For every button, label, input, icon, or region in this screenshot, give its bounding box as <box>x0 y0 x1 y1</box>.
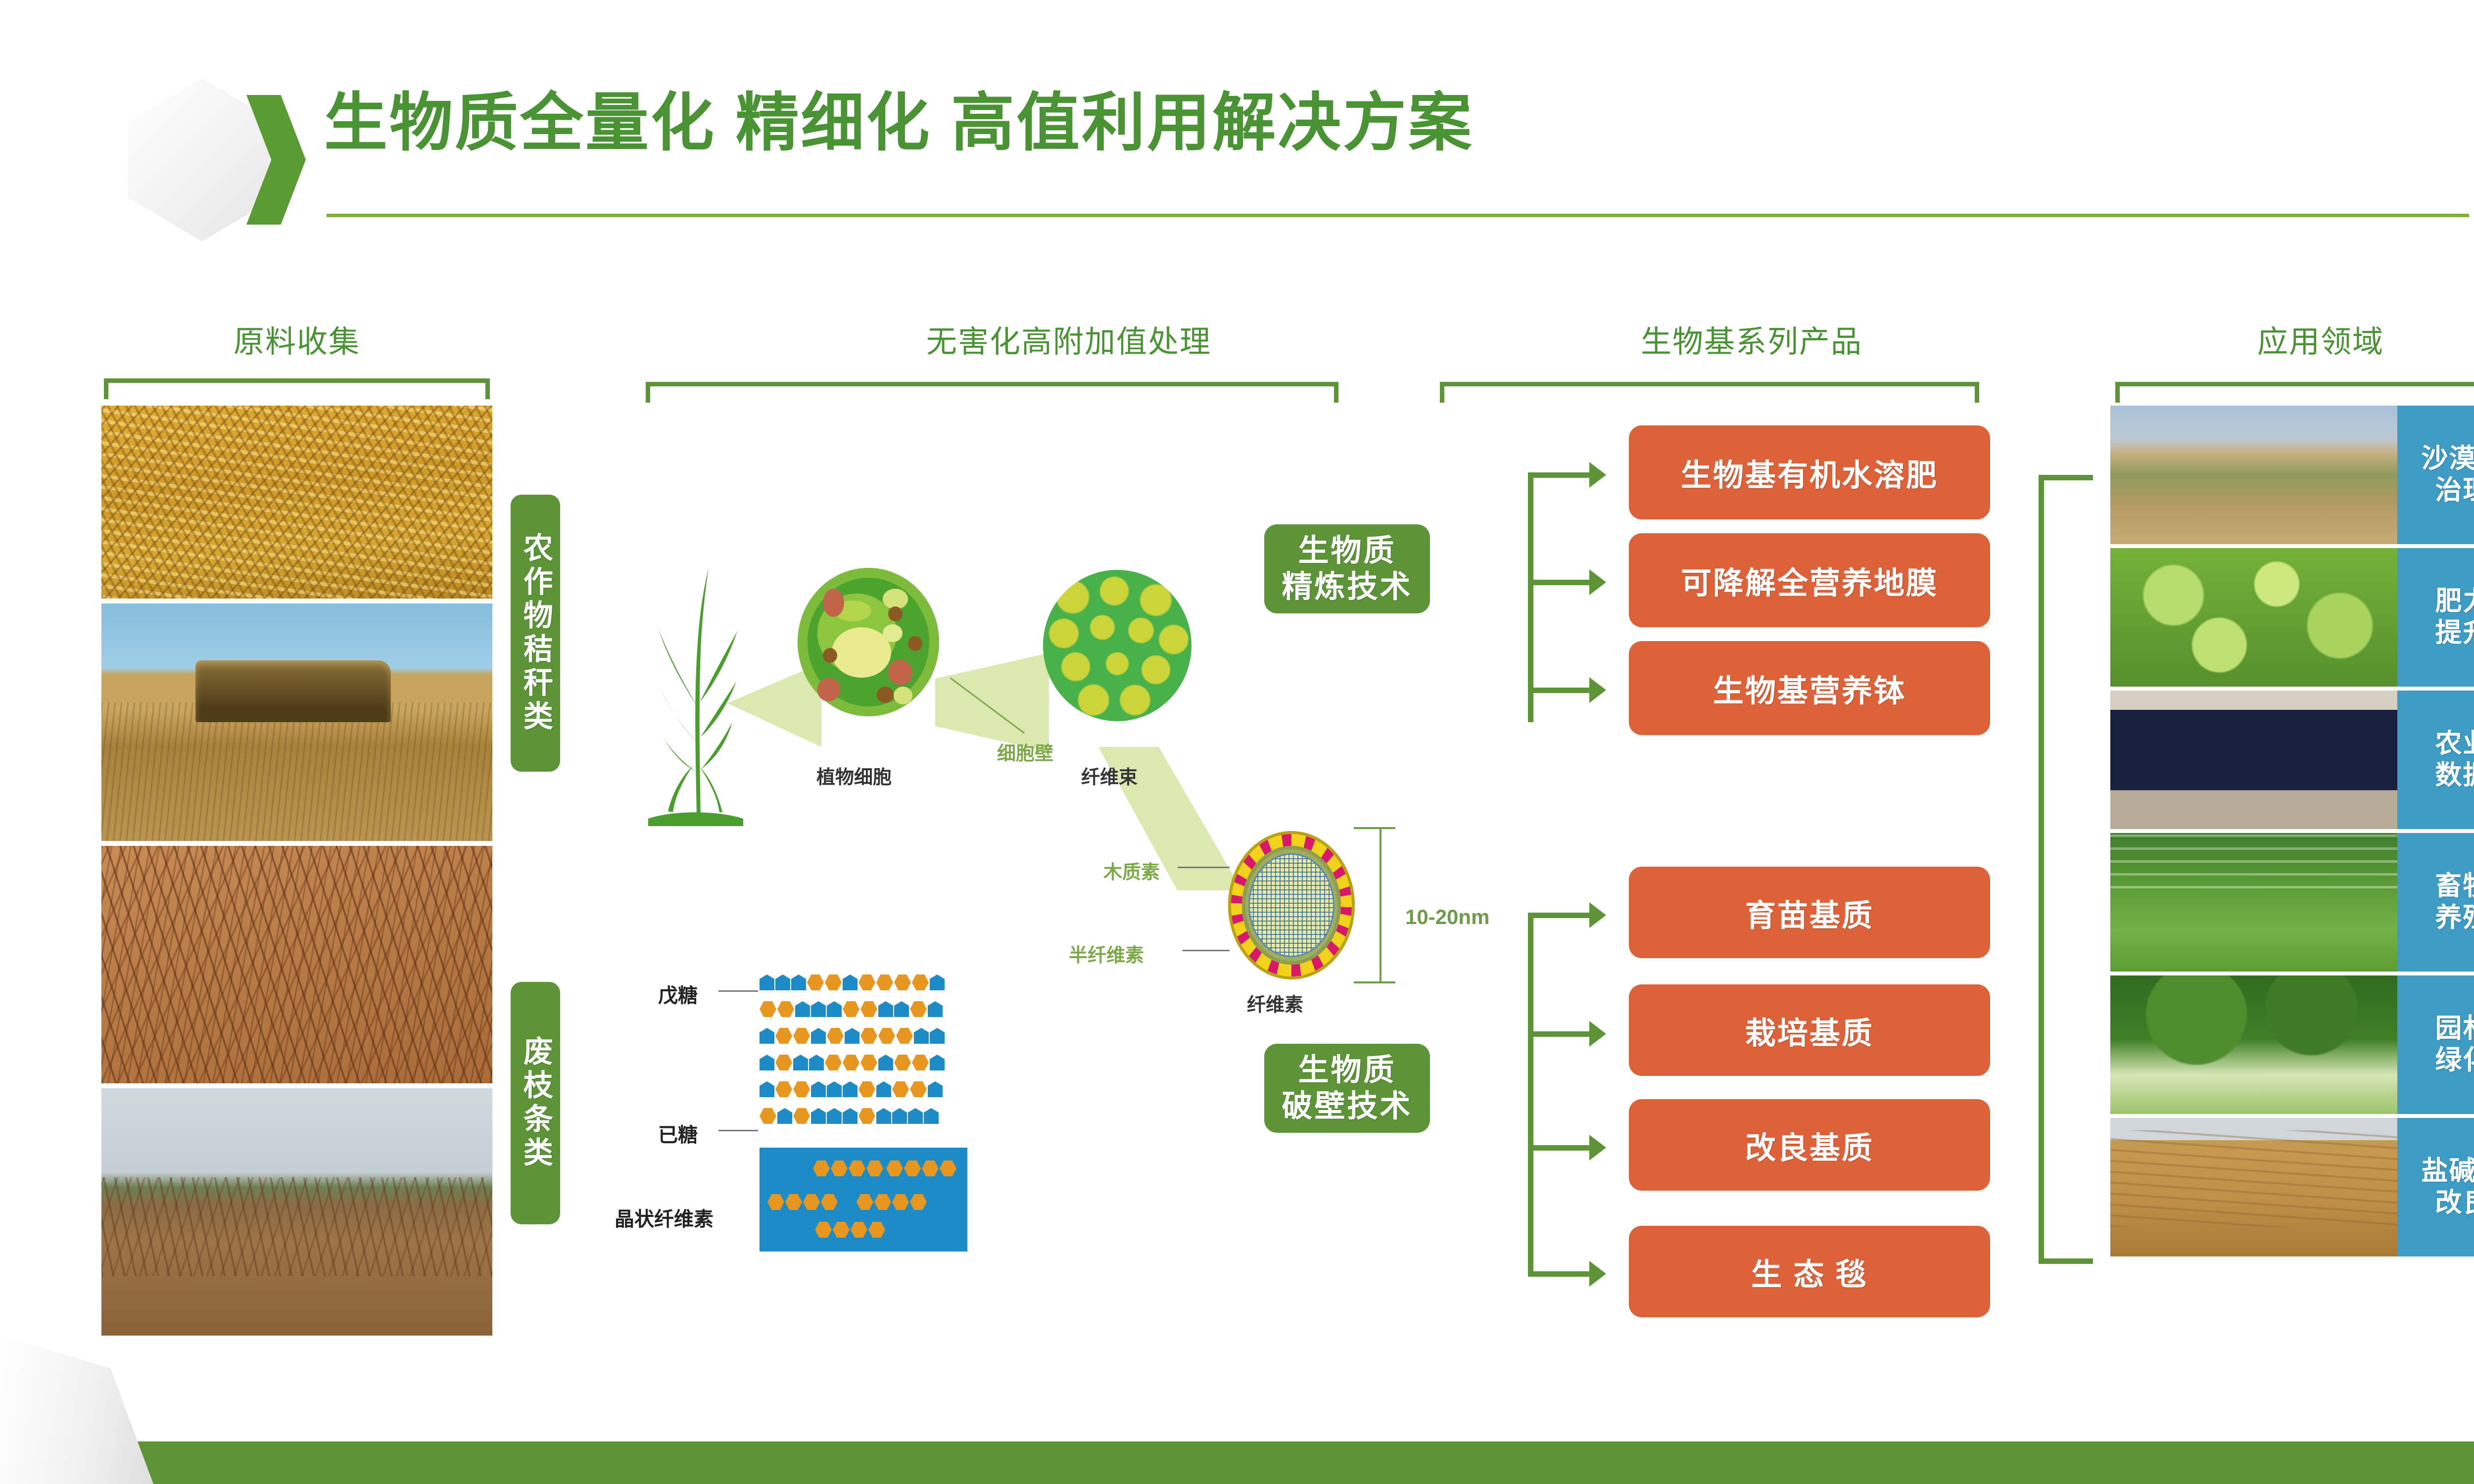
vertical-tag-waste-branches: 废枝条类 <box>511 982 560 1224</box>
flow-arm-wall-3 <box>1528 1145 1592 1151</box>
photo-straw-bale <box>101 603 492 841</box>
product-box-water-soluble-fertilizer[interactable]: 生物基有机水溶肥 <box>1629 425 1990 519</box>
sugar-chain-diagram <box>760 974 1002 1143</box>
flow-arrow-wall-1 <box>1589 902 1606 928</box>
product-box-seedling-substrate[interactable]: 育苗基质 <box>1629 867 1990 958</box>
hemicellulose-label: 半纤维素 <box>1069 940 1144 967</box>
cellulose-label: 纤维素 <box>1247 989 1303 1017</box>
crystalline-cellulose-label: 晶状纤维素 <box>615 1203 714 1232</box>
fiber-bundle-label: 纤维束 <box>1081 762 1138 789</box>
bracket-raw <box>104 378 490 399</box>
technology-box-refining[interactable]: 生物质 精炼技术 <box>1264 524 1430 613</box>
footer-bar <box>0 1441 2474 1484</box>
application-tag-landscaping-line2: 绿化 <box>2435 1045 2474 1076</box>
flow-arrow-wall-2 <box>1589 1021 1606 1047</box>
product-box-biodegradable-mulch-film[interactable]: 可降解全营养地膜 <box>1629 533 1990 627</box>
application-tag-livestock: 畜牧 养殖 <box>2397 833 2474 972</box>
hexose-label: 已糖 <box>658 1119 698 1148</box>
grass-plant-icon <box>638 559 752 826</box>
application-tag-agri-data: 农业 数据 <box>2397 691 2474 829</box>
application-photo-landscaping <box>2110 975 2397 1114</box>
science-illustration-panel: 10-20nm 细胞壁 植物细胞 纤维束 木质素 半纤维素 纤维素 戊糖 已糖 <box>609 514 1514 1266</box>
column-heading-processing: 无害化高附加值处理 <box>633 317 1504 361</box>
application-tag-fertility-line2: 提升 <box>2435 617 2474 649</box>
application-tag-saline-alkali: 盐碱地 改良 <box>2397 1118 2474 1256</box>
hemicellulose-lead-line <box>1183 950 1230 951</box>
application-photo-fertility <box>2110 548 2397 687</box>
application-tag-landscaping-line1: 园林 <box>2435 1013 2474 1045</box>
pentose-lead-line <box>718 990 758 992</box>
application-photo-agri-data <box>2110 691 2397 829</box>
application-photo-desertification <box>2110 406 2397 544</box>
raw-material-photo-column <box>101 406 492 1336</box>
technology-box-refining-line1: 生物质 <box>1298 533 1396 569</box>
fiber-bundle-illustration <box>1043 570 1191 721</box>
application-photo-saline-alkali <box>2110 1118 2397 1256</box>
application-photo-livestock <box>2110 833 2397 972</box>
flow-arrow-refining-2 <box>1589 569 1606 595</box>
flow-trunk-refining <box>1528 475 1533 722</box>
technology-box-wall-breaking[interactable]: 生物质 破壁技术 <box>1264 1044 1430 1133</box>
column-heading-raw: 原料收集 <box>101 317 492 361</box>
photo-waste-branches <box>101 846 492 1083</box>
application-tag-desertification-line2: 治理 <box>2435 475 2474 507</box>
column-heading-apps: 应用领域 <box>2108 317 2474 361</box>
application-row-desertification[interactable]: 沙漠化 治理 <box>2110 406 2474 544</box>
technology-box-wall-breaking-line2: 破壁技术 <box>1282 1088 1412 1124</box>
flow-arrow-refining-1 <box>1589 462 1606 488</box>
pentose-label: 戊糖 <box>658 979 698 1008</box>
photo-orchard-pruning <box>101 1088 492 1336</box>
bracket-processing <box>646 382 1338 403</box>
application-tag-desertification: 沙漠化 治理 <box>2397 406 2474 544</box>
footer-wedge-decoration <box>0 1336 153 1484</box>
flow-arrow-refining-3 <box>1589 677 1606 703</box>
plant-cell-illustration <box>798 568 939 716</box>
crystalline-cellulose-diagram <box>760 1148 967 1252</box>
fiber-cross-section-illustration <box>1228 831 1355 979</box>
application-bracket <box>2039 475 2093 1264</box>
plant-cell-label: 植物细胞 <box>816 762 892 789</box>
lignin-label: 木质素 <box>1103 857 1160 884</box>
application-tag-fertility-line1: 肥力 <box>2435 586 2474 617</box>
lignin-lead-line <box>1178 867 1230 868</box>
application-tag-fertility: 肥力 提升 <box>2397 548 2474 687</box>
application-tag-landscaping: 园林 绿化 <box>2397 975 2474 1114</box>
technology-box-refining-line2: 精炼技术 <box>1282 569 1412 605</box>
flow-arrow-wall-4 <box>1589 1261 1606 1287</box>
flow-arm-wall-2 <box>1528 1031 1592 1037</box>
application-row-livestock[interactable]: 畜牧 养殖 <box>2110 833 2474 972</box>
scale-label: 10-20nm <box>1405 905 1489 929</box>
application-tag-livestock-line1: 畜牧 <box>2435 871 2474 902</box>
bracket-products <box>1440 382 1979 403</box>
bracket-apps <box>2115 382 2474 403</box>
flow-arm-refining-3 <box>1528 688 1592 693</box>
product-box-ecological-blanket[interactable]: 生 态 毯 <box>1629 1226 1990 1317</box>
photo-crop-straw <box>101 406 492 599</box>
flow-arm-wall-4 <box>1528 1271 1592 1277</box>
application-tag-agri-data-line1: 农业 <box>2435 728 2474 760</box>
technology-box-wall-breaking-line1: 生物质 <box>1298 1052 1396 1088</box>
product-box-improvement-substrate[interactable]: 改良基质 <box>1629 1099 1990 1191</box>
column-heading-products: 生物基系列产品 <box>1425 317 2078 361</box>
flow-arm-wall-1 <box>1528 913 1592 918</box>
application-tag-saline-alkali-line1: 盐碱地 <box>2422 1156 2474 1187</box>
page-header: 生物质全量化 精细化 高值利用解决方案 <box>0 0 2474 237</box>
flow-arm-refining-2 <box>1528 580 1592 585</box>
vertical-tag-crop-straw: 农作物秸秆类 <box>511 495 560 772</box>
application-row-fertility[interactable]: 肥力 提升 <box>2110 548 2474 687</box>
flow-trunk-wall-breaking <box>1528 915 1533 1276</box>
flow-arm-refining-1 <box>1528 472 1592 478</box>
page-title: 生物质全量化 精细化 高值利用解决方案 <box>324 92 1474 155</box>
title-underline-divider <box>327 214 2469 217</box>
cell-wall-lead-line <box>950 678 1054 742</box>
application-tag-agri-data-line2: 数据 <box>2435 760 2474 791</box>
application-row-saline-alkali[interactable]: 盐碱地 改良 <box>2110 1118 2474 1256</box>
application-tag-saline-alkali-line2: 改良 <box>2435 1187 2474 1219</box>
hexose-lead-line <box>718 1130 758 1131</box>
product-box-cultivation-substrate[interactable]: 栽培基质 <box>1629 984 1990 1076</box>
product-box-nutrient-pot[interactable]: 生物基营养钵 <box>1629 641 1990 735</box>
cell-wall-label: 细胞壁 <box>997 738 1053 765</box>
application-tag-desertification-line1: 沙漠化 <box>2422 443 2474 475</box>
application-row-agri-data[interactable]: 农业 数据 <box>2110 691 2474 829</box>
application-tag-livestock-line2: 养殖 <box>2435 902 2474 934</box>
application-row-landscaping[interactable]: 园林 绿化 <box>2110 975 2474 1114</box>
flow-arrow-wall-3 <box>1589 1135 1606 1160</box>
